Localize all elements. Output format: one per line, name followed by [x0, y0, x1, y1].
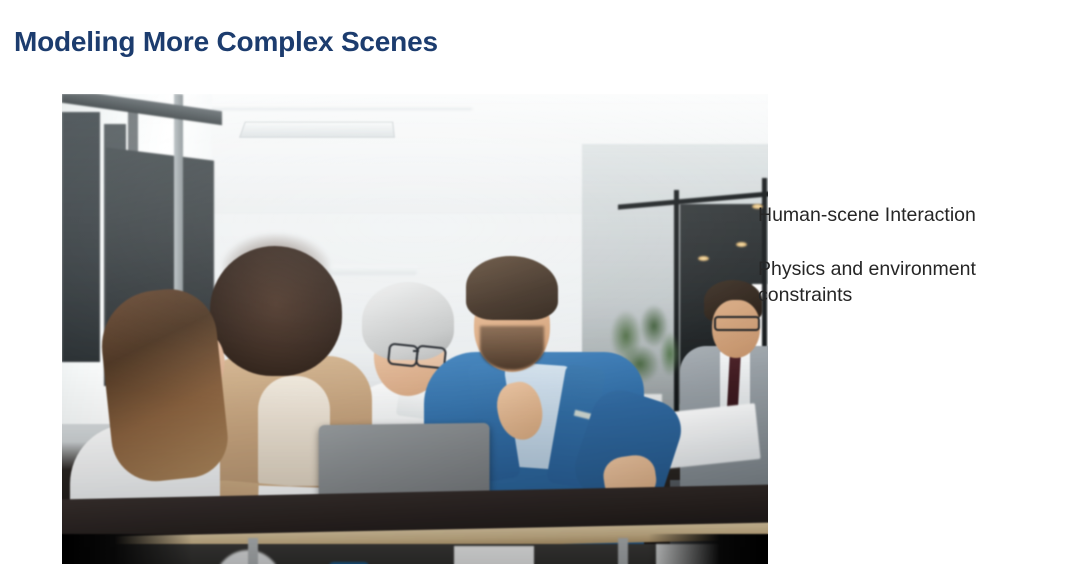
drawer-unit-left: [454, 546, 534, 564]
caption-physics-environment-constraints: Physics and environment constraints: [758, 256, 1058, 308]
desk-leg-right: [618, 538, 628, 564]
shadow-right: [648, 534, 768, 564]
window-blind-left: [62, 112, 100, 362]
caption-list: Human-scene Interaction Physics and envi…: [758, 182, 1058, 327]
desk-leg-left: [248, 538, 258, 564]
scene-photograph: [62, 94, 768, 564]
ceiling-light-panel-2: [321, 266, 418, 275]
eyeglass-lens-left: [387, 342, 419, 367]
ceiling-light-panel: [239, 122, 395, 138]
man-grey-suit-glasses: [714, 316, 760, 331]
eyeglass-bridge: [413, 350, 419, 352]
ceiling-spotlight-1: [698, 256, 709, 261]
shadow-left: [62, 534, 192, 564]
ceiling-spotlight-2: [736, 242, 747, 247]
woman-curly-hair: [210, 246, 342, 376]
man-blue-blazer-beard: [480, 326, 544, 370]
blue-bag: [328, 562, 370, 564]
man-blue-blazer-hair: [466, 256, 558, 320]
page-title: Modeling More Complex Scenes: [14, 26, 438, 58]
woman-long-hair: [96, 284, 231, 485]
caption-human-scene-interaction: Human-scene Interaction: [758, 202, 1058, 228]
